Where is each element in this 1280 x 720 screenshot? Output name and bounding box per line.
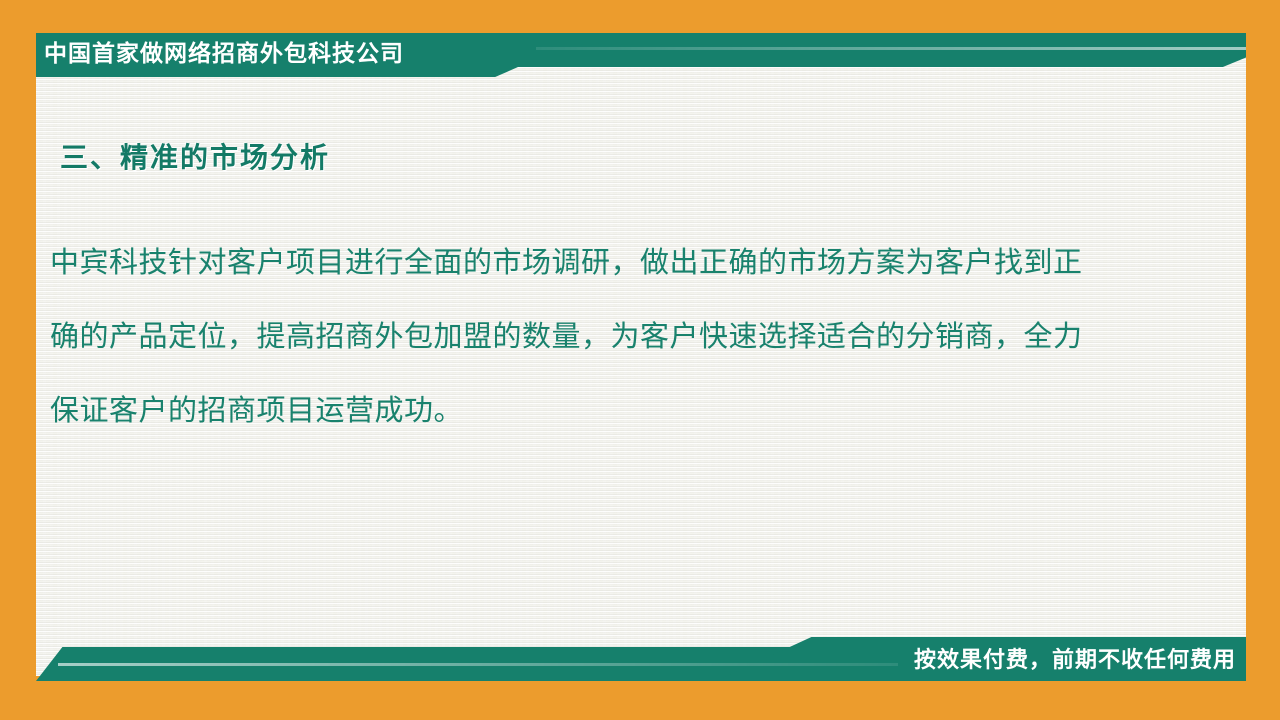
footer-hairline-divider	[58, 663, 898, 666]
header-hairline-divider	[536, 47, 1246, 50]
body-copy: 中宾科技针对客户项目进行全面的市场调研，做出正确的市场方案为客户找到正 确的产品…	[50, 226, 1185, 448]
header-title: 中国首家做网络招商外包科技公司	[44, 31, 404, 75]
section-heading: 三、精准的市场分析	[60, 136, 330, 176]
body-line: 确的产品定位，提高招商外包加盟的数量，为客户快速选择适合的分销商，全力	[50, 300, 1185, 374]
header-green-strip	[476, 33, 1246, 67]
body-line: 中宾科技针对客户项目进行全面的市场调研，做出正确的市场方案为客户找到正	[50, 226, 1185, 300]
slide-root: 中国首家做网络招商外包科技公司 三、精准的市场分析 中宾科技针对客户项目进行全面…	[0, 0, 1280, 720]
body-line: 保证客户的招商项目运营成功。	[50, 374, 1185, 448]
footer-tagline: 按效果付费，前期不收任何费用	[914, 637, 1236, 681]
